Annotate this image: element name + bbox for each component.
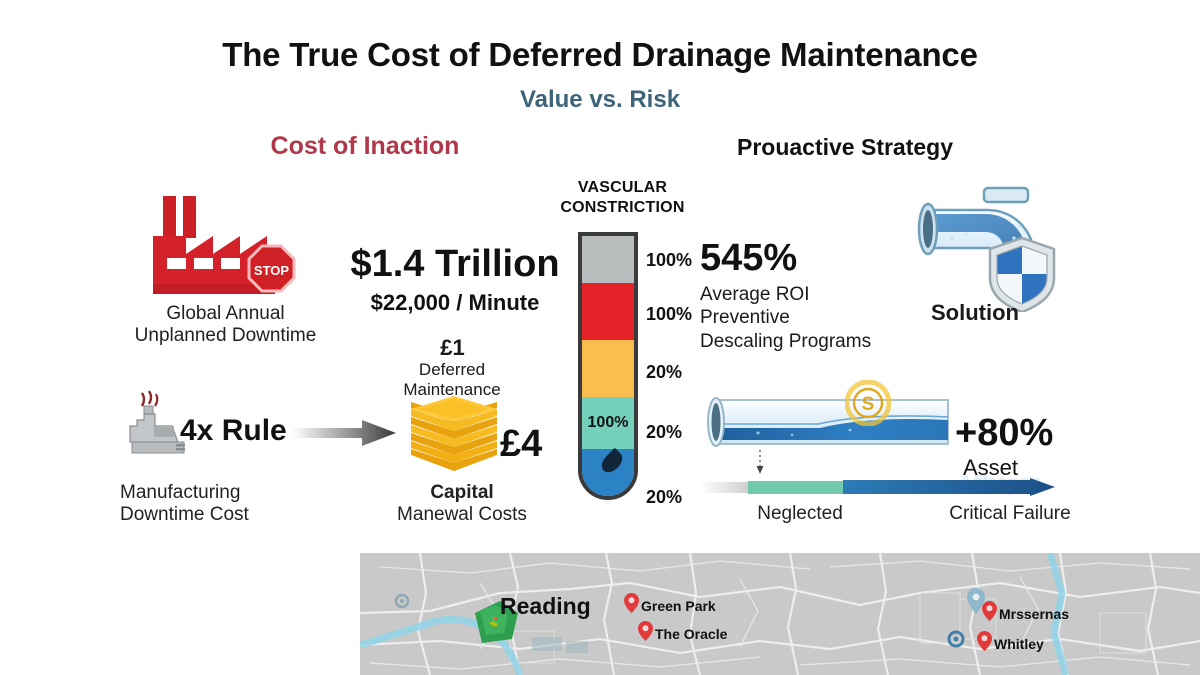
roi-description: Average ROI Preventive Descaling Program… [700,283,900,353]
map-marker[interactable]: Mrssernas [982,601,1069,626]
map-pin-icon [977,631,992,656]
tube-band-gray [582,236,634,283]
horizontal-pipe-icon [700,392,955,454]
tube-title-line2: CONSTRICTION [550,198,695,218]
tube-tick-blue: 20% [646,487,682,508]
tube-tick-red: 100% [646,304,692,325]
capital-caption-line2: Manewal Costs [372,504,552,526]
section-heading-cost-of-inaction: Cost of Inaction [200,132,530,161]
map-pin-icon [982,601,997,626]
capital-amount: £4 [500,423,542,466]
per-minute-value: $22,000 / Minute [340,290,570,316]
infographic-canvas: The True Cost of Deferred Drainage Maint… [0,0,1200,675]
neglected-label: Neglected [700,503,900,525]
section-heading-proactive-strategy: Prouactive Strategy [700,134,990,161]
tube-tick-orange: 20% [646,362,682,383]
map-background: ⛳ [360,553,1200,675]
roi-line3: Descaling Programs [700,330,900,353]
map-marker[interactable]: The Oracle [638,621,727,646]
roi-line2: Preventive [700,306,900,329]
elbow-pipe-shield-icon [900,182,1080,312]
downtime-caption-line2: Unplanned Downtime [118,325,333,347]
map-marker-label: Mrssernas [999,606,1069,622]
tube-band-red [582,283,634,340]
factory-stop-icon: STOP [145,196,305,301]
svg-text:⛳: ⛳ [488,616,499,628]
tube-tick-gray: 100% [646,250,692,271]
tube-band-orange [582,340,634,397]
deferred-label-line1: Deferred [362,360,542,380]
map-marker-label: The Oracle [655,626,727,642]
map-pin-icon [638,621,653,646]
four-x-rule-label: 4x Rule [180,414,287,448]
tube-title-line1: VASCULAR [550,178,695,198]
tube-tick-teal: 20% [646,422,682,443]
map-marker[interactable]: Green Park [624,593,716,618]
downtime-caption-line1: Global Annual [118,303,333,325]
manufacturing-caption: Manufacturing Downtime Cost [120,482,330,527]
coin-stack-icon [405,393,503,479]
tube-inner-label: 100% [578,414,638,432]
map-pin-icon [624,593,639,618]
tube-title: VASCULAR CONSTRICTION [550,178,695,218]
vascular-constriction-tube: 100% 100%100%20%20%20% [578,232,638,500]
map-marker[interactable]: Whitley [977,631,1044,656]
right-arrow-icon [292,418,396,448]
svg-text:S: S [862,394,875,415]
dollar-coin-icon: S [845,380,891,426]
svg-text:STOP: STOP [254,263,289,278]
page-title: The True Cost of Deferred Drainage Maint… [0,36,1200,74]
trillion-value: $1.4 Trillion [340,243,570,286]
map-city-label: Reading [500,593,591,620]
solution-label: Solution [905,300,1045,326]
downtime-caption: Global Annual Unplanned Downtime [118,303,333,348]
deferred-amount: £1 [370,335,535,361]
roi-value: 545% [700,237,797,280]
manufacturing-caption-line2: Downtime Cost [120,504,330,526]
dotted-connector-icon [755,450,765,476]
map-marker-label: Green Park [641,598,716,614]
page-subtitle: Value vs. Risk [0,86,1200,114]
lifespan-value: +80% [955,412,1075,455]
map-panel[interactable]: ⛳ Reading Green ParkThe OracleMrssernasW… [360,553,1200,675]
critical-failure-label: Critical Failure [920,503,1100,525]
manufacturing-caption-line1: Manufacturing [120,482,330,504]
map-marker-label: Whitley [994,636,1044,652]
asset-lifespan-bar [700,478,1055,496]
capital-caption-line1: Capital [382,482,542,504]
roi-line1: Average ROI [700,283,900,306]
tube-body [578,232,638,500]
